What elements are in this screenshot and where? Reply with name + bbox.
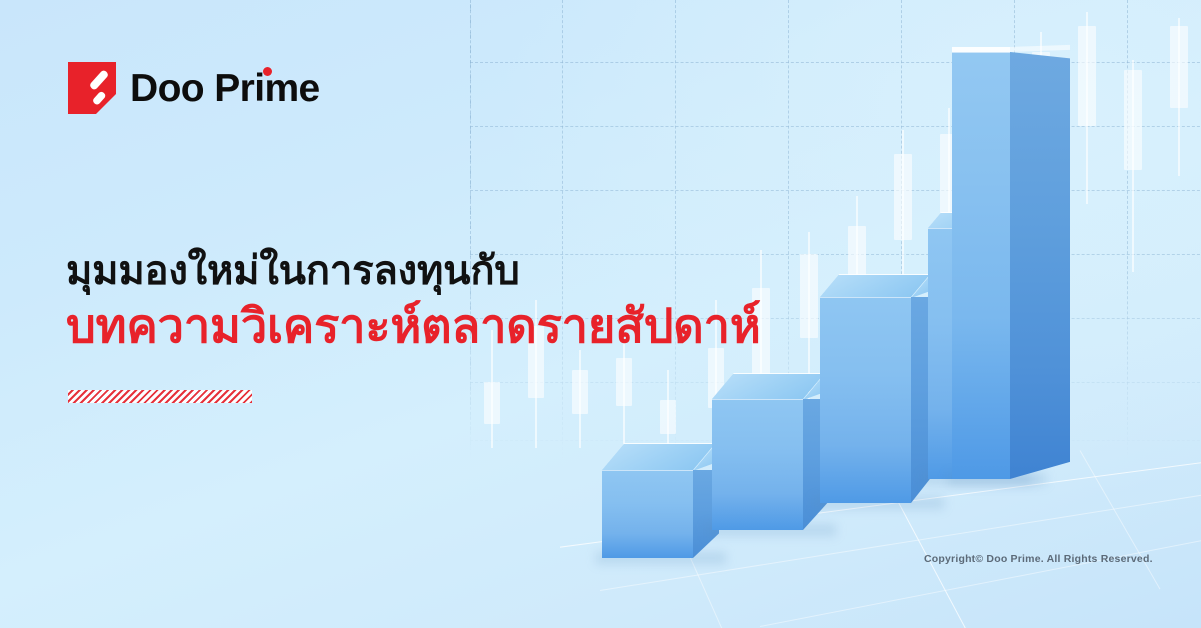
brand-name-text: Doo Prime: [130, 67, 320, 110]
banner-canvas: Doo Prime มุมมองใหม่ในการลงทุนกับ บทความ…: [0, 0, 1201, 628]
logo-red-dot-icon: [263, 67, 272, 76]
bar-3: [820, 297, 911, 503]
headline-line-2: บทความวิเคราะห์ตลาดรายสัปดาห์: [66, 298, 826, 354]
bar-1: [602, 470, 693, 558]
doo-prime-logo-mark-icon: [68, 62, 116, 114]
bar-5: [952, 52, 1010, 479]
headline-line-1: มุมมองใหม่ในการลงทุนกับ: [66, 247, 826, 296]
red-diagonal-stripe-bar: [68, 390, 252, 403]
headline-block: มุมมองใหม่ในการลงทุนกับ บทความวิเคราะห์ต…: [66, 247, 826, 354]
bar-2: [712, 399, 803, 530]
brand-logo[interactable]: Doo Prime: [68, 62, 320, 114]
copyright-text: Copyright© Doo Prime. All Rights Reserve…: [924, 553, 1153, 565]
brand-wordmark: Doo Prime: [130, 69, 320, 108]
